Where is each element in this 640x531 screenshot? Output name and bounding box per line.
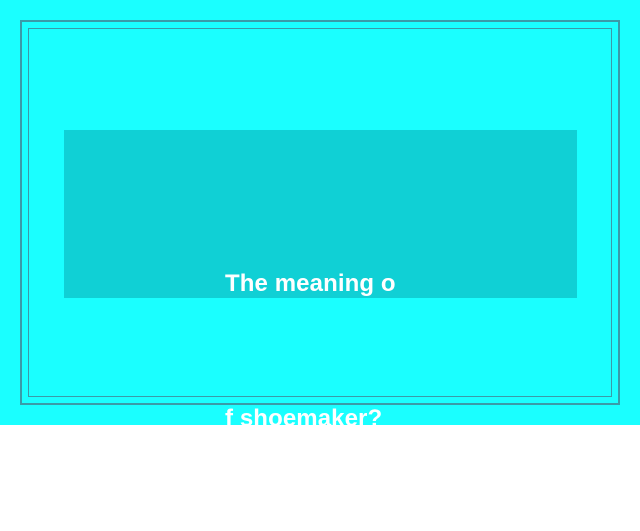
question-text-block: The meaning o f shoemaker? xyxy=(225,171,555,531)
question-line-1: The meaning o xyxy=(225,261,555,306)
question-line-2: f shoemaker? xyxy=(225,396,555,441)
image-canvas: The meaning o f shoemaker? xyxy=(0,0,640,425)
question-panel: The meaning o f shoemaker? xyxy=(64,130,577,298)
